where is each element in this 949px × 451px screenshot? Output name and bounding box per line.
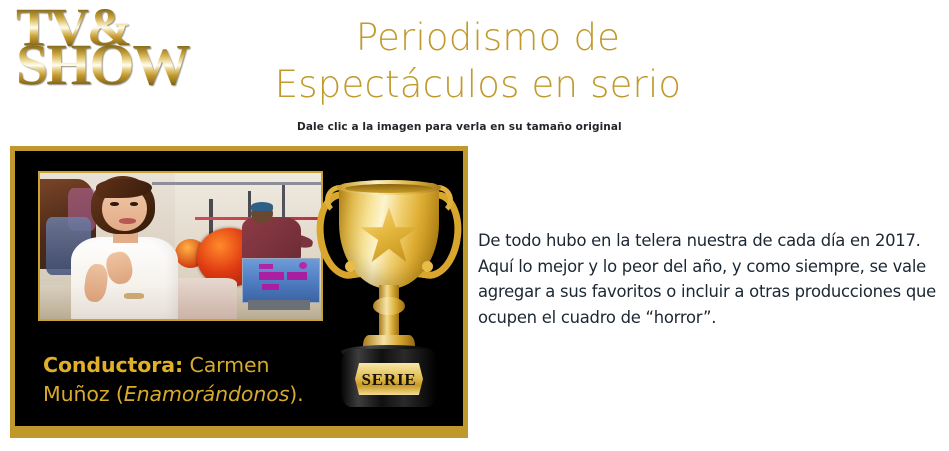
trophy-plaque: SERIE	[355, 363, 423, 395]
logo-line-show: SHOW	[16, 42, 226, 87]
headline-line-2: Espectáculos en serio	[228, 61, 728, 108]
trophy-rim-inner	[345, 184, 433, 193]
article-intro: De todo hubo en la telera nuestra de cad…	[478, 228, 940, 330]
image-click-hint: Dale clic a la imagen para verla en su t…	[297, 121, 622, 133]
site-logo[interactable]: TV& SHOW	[16, 6, 226, 111]
card-caption: Conductora: Carmen Muñoz (Enamorándonos)…	[43, 351, 313, 409]
caption-role-label: Conductora:	[43, 353, 183, 377]
photo-monitor-text-4	[262, 284, 279, 290]
photo-monitor-text-3	[287, 272, 307, 279]
photo-monitor-text-2	[259, 272, 284, 279]
photo-crew-cap	[251, 202, 273, 211]
article-paragraph: De todo hubo en la telera nuestra de cad…	[478, 228, 940, 330]
photo-monitor-text-1	[259, 264, 273, 270]
headline-line-1: Periodismo de	[228, 14, 728, 61]
photo-host-mouth	[119, 218, 136, 223]
photo-host-eye-left	[110, 202, 118, 206]
caption-tail: ).	[289, 382, 303, 406]
trophy-plaque-label: SERIE	[361, 371, 416, 388]
photo-monitor-stand	[248, 300, 310, 310]
show-photo[interactable]	[38, 171, 323, 321]
trophy-icon: SERIE	[315, 169, 463, 417]
page-title: Periodismo de Espectáculos en serio	[228, 14, 728, 109]
caption-show-title: Enamorándonos	[124, 382, 289, 406]
photo-lighting-rig	[152, 182, 321, 185]
photo-studio-monitor	[242, 258, 320, 304]
trophy-stem-ball	[373, 297, 405, 315]
trophy-knob-left	[345, 261, 356, 272]
trophy-knob-right	[422, 261, 433, 272]
photo-host-watch	[124, 293, 144, 299]
media-card[interactable]: SERIE Conductora: Carmen Muñoz (Enamorán…	[10, 146, 468, 438]
photo-crew-body	[242, 217, 301, 261]
